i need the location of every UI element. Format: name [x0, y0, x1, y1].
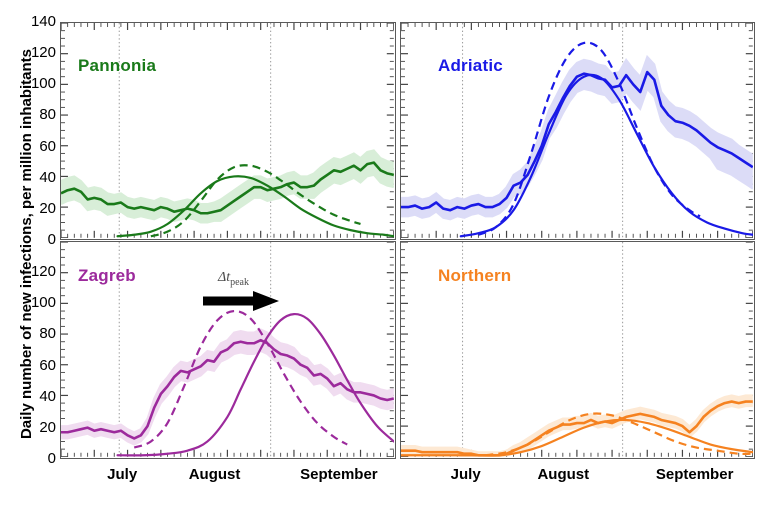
y-tick-60: 60 [22, 138, 56, 155]
y-tick-100: 100 [22, 75, 56, 92]
y-tick-100: 100 [22, 294, 56, 311]
x-label-july-right: July [451, 466, 481, 483]
panel-adriatic [400, 22, 755, 240]
panel-title-adriatic: Adriatic [438, 56, 503, 76]
panel-title-pannonia: Pannonia [78, 56, 156, 76]
y-tick-labels-bottom: 020406080100120 [22, 241, 56, 459]
delta-t-peak-arrow [201, 290, 281, 312]
y-tick-80: 80 [22, 325, 56, 342]
x-label-september-left: September [300, 466, 378, 483]
y-tick-labels-top: 020406080100120140 [22, 22, 56, 240]
y-tick-40: 40 [22, 169, 56, 186]
x-label-august-right: August [537, 466, 589, 483]
y-tick-20: 20 [22, 200, 56, 217]
y-tick-60: 60 [22, 357, 56, 374]
y-tick-120: 120 [22, 263, 56, 280]
y-tick-20: 20 [22, 419, 56, 436]
panel-title-northern: Northern [438, 266, 511, 286]
panel-pannonia [60, 22, 396, 240]
delta-t-peak-annotation: Δtpeak [218, 270, 249, 288]
y-tick-80: 80 [22, 106, 56, 123]
x-label-august-left: August [189, 466, 241, 483]
y-tick-140: 140 [22, 13, 56, 30]
panel-title-zagreb: Zagreb [78, 266, 136, 286]
x-label-september-right: September [656, 466, 734, 483]
y-tick-0: 0 [22, 450, 56, 467]
y-tick-120: 120 [22, 44, 56, 61]
figure-root: Daily number of new infections, per mill… [0, 0, 763, 522]
x-label-july-left: July [107, 466, 137, 483]
y-tick-40: 40 [22, 388, 56, 405]
